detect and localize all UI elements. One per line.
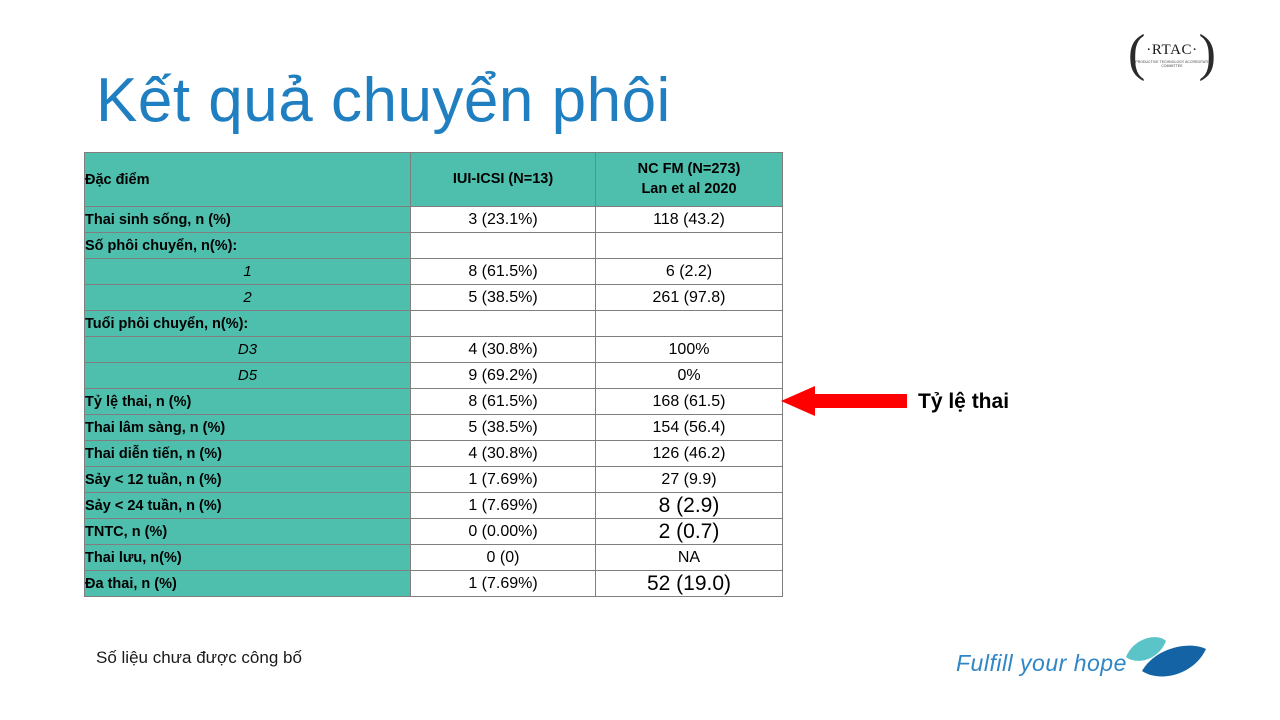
cell-iui-icsi: 8 (61.5%) — [411, 259, 596, 285]
table-row: D59 (69.2%)0% — [85, 363, 783, 389]
table-row: D34 (30.8%)100% — [85, 337, 783, 363]
column-header-nc-fm-line1: NC FM (N=273) — [596, 160, 782, 180]
table-row: 18 (61.5%)6 (2.2) — [85, 259, 783, 285]
cell-nc-fm: 118 (43.2) — [596, 207, 783, 233]
table-row: Thai lưu, n(%)0 (0)NA — [85, 545, 783, 571]
cell-iui-icsi: 0 (0.00%) — [411, 519, 596, 545]
table-header-row: Đặc điểm IUI-ICSI (N=13) NC FM (N=273) L… — [85, 153, 783, 207]
row-label: D5 — [85, 363, 411, 389]
cell-nc-fm: 100% — [596, 337, 783, 363]
cell-nc-fm: 8 (2.9) — [596, 493, 783, 519]
row-label: D3 — [85, 337, 411, 363]
row-label: 1 — [85, 259, 411, 285]
table-row: Thai diễn tiến, n (%)4 (30.8%)126 (46.2) — [85, 441, 783, 467]
row-label: Thai lưu, n(%) — [85, 545, 411, 571]
cell-iui-icsi: 0 (0) — [411, 545, 596, 571]
cell-nc-fm: NA — [596, 545, 783, 571]
table-row: 25 (38.5%)261 (97.8) — [85, 285, 783, 311]
row-label: Sảy < 12 tuần, n (%) — [85, 467, 411, 493]
brand-tagline: Fulfill your hope — [956, 650, 1127, 677]
table-row: Đa thai, n (%)1 (7.69%)52 (19.0) — [85, 571, 783, 597]
row-label: Sảy < 24 tuần, n (%) — [85, 493, 411, 519]
table-row: Thai sinh sống, n (%)3 (23.1%)118 (43.2) — [85, 207, 783, 233]
row-label: Thai sinh sống, n (%) — [85, 207, 411, 233]
cell-nc-fm: 0% — [596, 363, 783, 389]
cell-nc-fm: 6 (2.2) — [596, 259, 783, 285]
cell-nc-fm: 168 (61.5) — [596, 389, 783, 415]
cell-nc-fm: 2 (0.7) — [596, 519, 783, 545]
embryo-transfer-results-table: Đặc điểm IUI-ICSI (N=13) NC FM (N=273) L… — [84, 152, 783, 597]
page-title: Kết quả chuyển phôi — [96, 68, 671, 133]
cell-nc-fm: 27 (9.9) — [596, 467, 783, 493]
cell-iui-icsi: 1 (7.69%) — [411, 493, 596, 519]
row-label: Thai lâm sàng, n (%) — [85, 415, 411, 441]
annotation-label-ty-le-thai: Tỷ lệ thai — [918, 390, 1009, 414]
row-label: TNTC, n (%) — [85, 519, 411, 545]
row-label: Tuổi phôi chuyển, n(%): — [85, 311, 411, 337]
cell-iui-icsi: 1 (7.69%) — [411, 467, 596, 493]
column-header-iui-icsi: IUI-ICSI (N=13) — [411, 153, 596, 207]
cell-nc-fm: 261 (97.8) — [596, 285, 783, 311]
red-left-arrow-icon — [781, 386, 907, 416]
column-header-nc-fm: NC FM (N=273) Lan et al 2020 — [596, 153, 783, 207]
table-row: Thai lâm sàng, n (%)5 (38.5%)154 (56.4) — [85, 415, 783, 441]
row-label: Đa thai, n (%) — [85, 571, 411, 597]
cell-nc-fm: 52 (19.0) — [596, 571, 783, 597]
cell-nc-fm — [596, 233, 783, 259]
table-row: Số phôi chuyển, n(%): — [85, 233, 783, 259]
cell-iui-icsi: 4 (30.8%) — [411, 337, 596, 363]
cell-nc-fm: 154 (56.4) — [596, 415, 783, 441]
row-label: Số phôi chuyển, n(%): — [85, 233, 411, 259]
rtac-logo-subtitle: REPRODUCTIVE TECHNOLOGY ACCREDITATION CO… — [1128, 60, 1216, 69]
cell-nc-fm: 126 (46.2) — [596, 441, 783, 467]
row-label: Tỷ lệ thai, n (%) — [85, 389, 411, 415]
cell-iui-icsi: 4 (30.8%) — [411, 441, 596, 467]
cell-iui-icsi — [411, 233, 596, 259]
table-row: Sảy < 24 tuần, n (%)1 (7.69%)8 (2.9) — [85, 493, 783, 519]
cell-nc-fm — [596, 311, 783, 337]
cell-iui-icsi: 5 (38.5%) — [411, 285, 596, 311]
row-label: Thai diễn tiến, n (%) — [85, 441, 411, 467]
table-row: Sảy < 12 tuần, n (%)1 (7.69%)27 (9.9) — [85, 467, 783, 493]
column-header-nc-fm-line2: Lan et al 2020 — [596, 180, 782, 200]
cell-iui-icsi: 3 (23.1%) — [411, 207, 596, 233]
cell-iui-icsi — [411, 311, 596, 337]
brand-leaf-logo-icon — [1114, 631, 1210, 687]
cell-iui-icsi: 1 (7.69%) — [411, 571, 596, 597]
table-row: Tuổi phôi chuyển, n(%): — [85, 311, 783, 337]
footer-note: Số liệu chưa được công bố — [96, 648, 302, 668]
rtac-logo-name: ·RTAC· — [1128, 42, 1216, 59]
cell-iui-icsi: 9 (69.2%) — [411, 363, 596, 389]
cell-iui-icsi: 5 (38.5%) — [411, 415, 596, 441]
row-label: 2 — [85, 285, 411, 311]
cell-iui-icsi: 8 (61.5%) — [411, 389, 596, 415]
table-row: Tỷ lệ thai, n (%)8 (61.5%)168 (61.5) — [85, 389, 783, 415]
table-row: TNTC, n (%)0 (0.00%)2 (0.7) — [85, 519, 783, 545]
rtac-logo: ( ) ·RTAC· REPRODUCTIVE TECHNOLOGY ACCRE… — [1128, 28, 1216, 82]
column-header-characteristic: Đặc điểm — [85, 153, 411, 207]
